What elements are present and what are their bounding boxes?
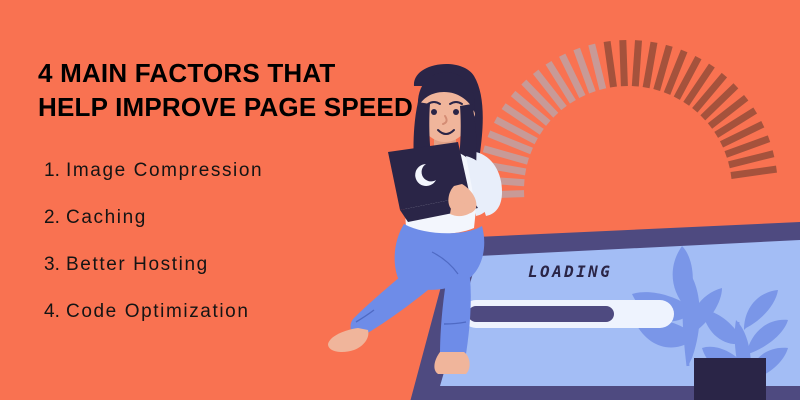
- page-title: 4 MAIN FACTORS THAT HELP IMPROVE PAGE SP…: [38, 56, 438, 124]
- list-item-number: 3.: [44, 254, 66, 276]
- sunburst-ray: [607, 42, 613, 88]
- list-item: 4. Code Optimization: [44, 301, 394, 348]
- jeans-leg-back: [440, 278, 471, 354]
- poster-canvas: LOADING: [0, 0, 800, 400]
- sunburst-ray: [646, 42, 654, 87]
- list-item: 3. Better Hosting: [44, 254, 394, 301]
- list-item-number: 1.: [44, 160, 66, 182]
- eye-right: [453, 109, 459, 115]
- loading-label: LOADING: [528, 262, 612, 281]
- sunburst-ray: [623, 40, 625, 86]
- plant-pot: [694, 358, 766, 400]
- foot-back: [434, 352, 469, 374]
- list-item-label: Better Hosting: [66, 254, 209, 276]
- list-item: 1. Image Compression: [44, 160, 394, 207]
- sunburst-ray: [592, 45, 603, 90]
- list-item-label: Caching: [66, 207, 147, 229]
- sunburst-ray: [635, 40, 638, 86]
- list-item-number: 4.: [44, 301, 66, 323]
- list-item-number: 2.: [44, 207, 66, 229]
- list-item-label: Code Optimization: [66, 301, 250, 323]
- sunburst-ray: [729, 154, 774, 165]
- list-item-label: Image Compression: [66, 160, 263, 182]
- sunburst-ray: [731, 169, 777, 175]
- factors-list: 1. Image Compression 2. Caching 3. Bette…: [44, 160, 394, 348]
- list-item: 2. Caching: [44, 207, 394, 254]
